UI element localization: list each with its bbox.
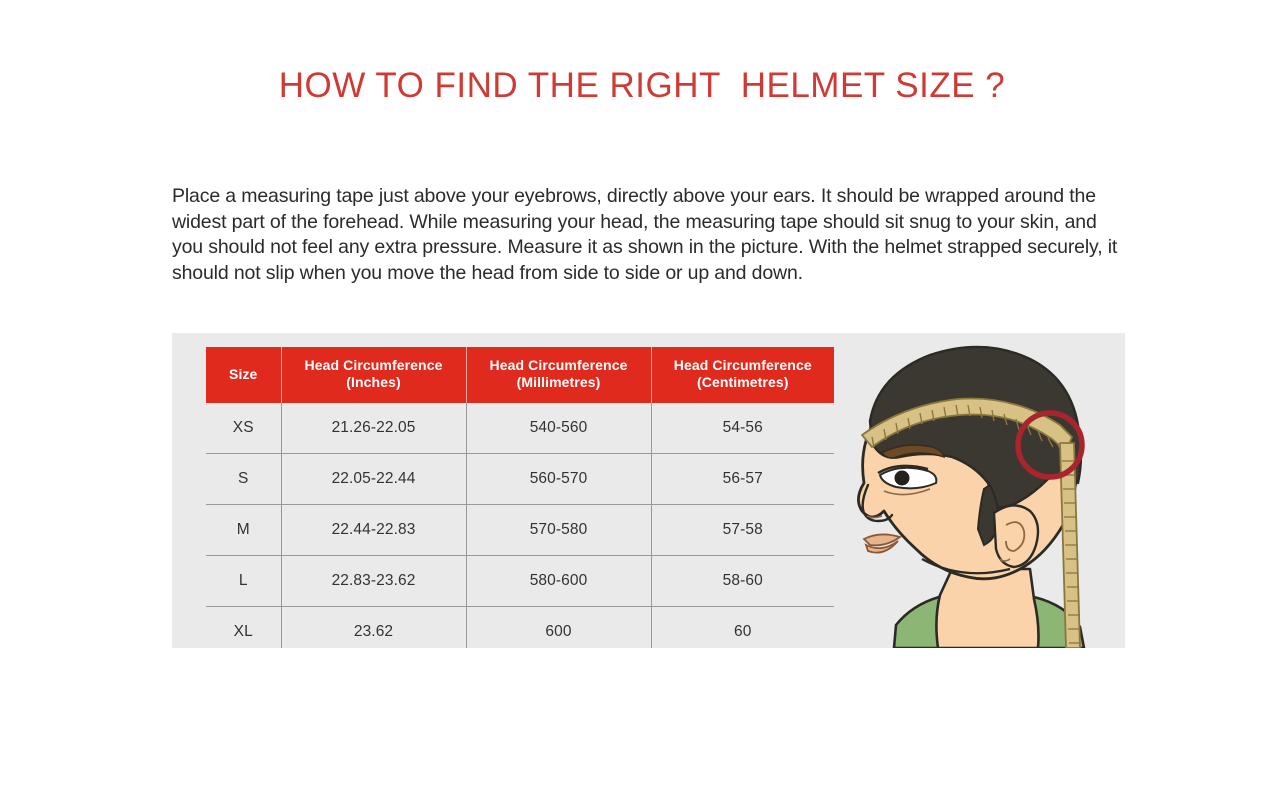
pupil xyxy=(895,471,910,486)
column-header-millimetres-unit: (Millimetres) xyxy=(471,374,647,391)
cell-millimetres: 540-560 xyxy=(466,403,651,454)
cell-size: L xyxy=(206,556,281,607)
table-row: S 22.05-22.44 560-570 56-57 xyxy=(206,454,834,505)
cell-millimetres: 600 xyxy=(466,607,651,649)
cell-size: M xyxy=(206,505,281,556)
cell-centimetres: 54-56 xyxy=(651,403,834,454)
table-row: XS 21.26-22.05 540-560 54-56 xyxy=(206,403,834,454)
column-header-inches-unit: (Inches) xyxy=(286,374,462,391)
cell-inches: 22.44-22.83 xyxy=(281,505,466,556)
cell-centimetres: 57-58 xyxy=(651,505,834,556)
intro-paragraph: Place a measuring tape just above your e… xyxy=(172,184,1120,286)
cell-inches: 22.83-23.62 xyxy=(281,556,466,607)
column-header-millimetres-label: Head Circumference xyxy=(490,357,628,373)
cell-inches: 23.62 xyxy=(281,607,466,649)
cell-millimetres: 570-580 xyxy=(466,505,651,556)
cell-size: XS xyxy=(206,403,281,454)
column-header-size: Size xyxy=(206,347,281,403)
cell-millimetres: 560-570 xyxy=(466,454,651,505)
table-row: M 22.44-22.83 570-580 57-58 xyxy=(206,505,834,556)
column-header-inches-label: Head Circumference xyxy=(305,357,443,373)
table-row: XL 23.62 600 60 xyxy=(206,607,834,649)
table-row: L 22.83-23.62 580-600 58-60 xyxy=(206,556,834,607)
column-header-centimetres-label: Head Circumference xyxy=(674,357,812,373)
cell-centimetres: 56-57 xyxy=(651,454,834,505)
column-header-inches: Head Circumference (Inches) xyxy=(281,347,466,403)
cell-size: S xyxy=(206,454,281,505)
column-header-centimetres: Head Circumference (Centimetres) xyxy=(651,347,834,403)
page-title: HOW TO FIND THE RIGHT HELMET SIZE ? xyxy=(0,66,1284,106)
neck-shape xyxy=(936,569,1038,648)
size-chart-panel: Size Head Circumference (Inches) Head Ci… xyxy=(172,333,1125,648)
cell-centimetres: 58-60 xyxy=(651,556,834,607)
head-measurement-illustration xyxy=(834,333,1125,648)
cell-millimetres: 580-600 xyxy=(466,556,651,607)
cell-centimetres: 60 xyxy=(651,607,834,649)
table-header-row: Size Head Circumference (Inches) Head Ci… xyxy=(206,347,834,403)
cell-inches: 21.26-22.05 xyxy=(281,403,466,454)
cell-inches: 22.05-22.44 xyxy=(281,454,466,505)
column-header-centimetres-unit: (Centimetres) xyxy=(656,374,831,391)
column-header-size-label: Size xyxy=(229,366,257,382)
column-header-millimetres: Head Circumference (Millimetres) xyxy=(466,347,651,403)
cell-size: XL xyxy=(206,607,281,649)
helmet-size-table: Size Head Circumference (Inches) Head Ci… xyxy=(206,347,834,648)
